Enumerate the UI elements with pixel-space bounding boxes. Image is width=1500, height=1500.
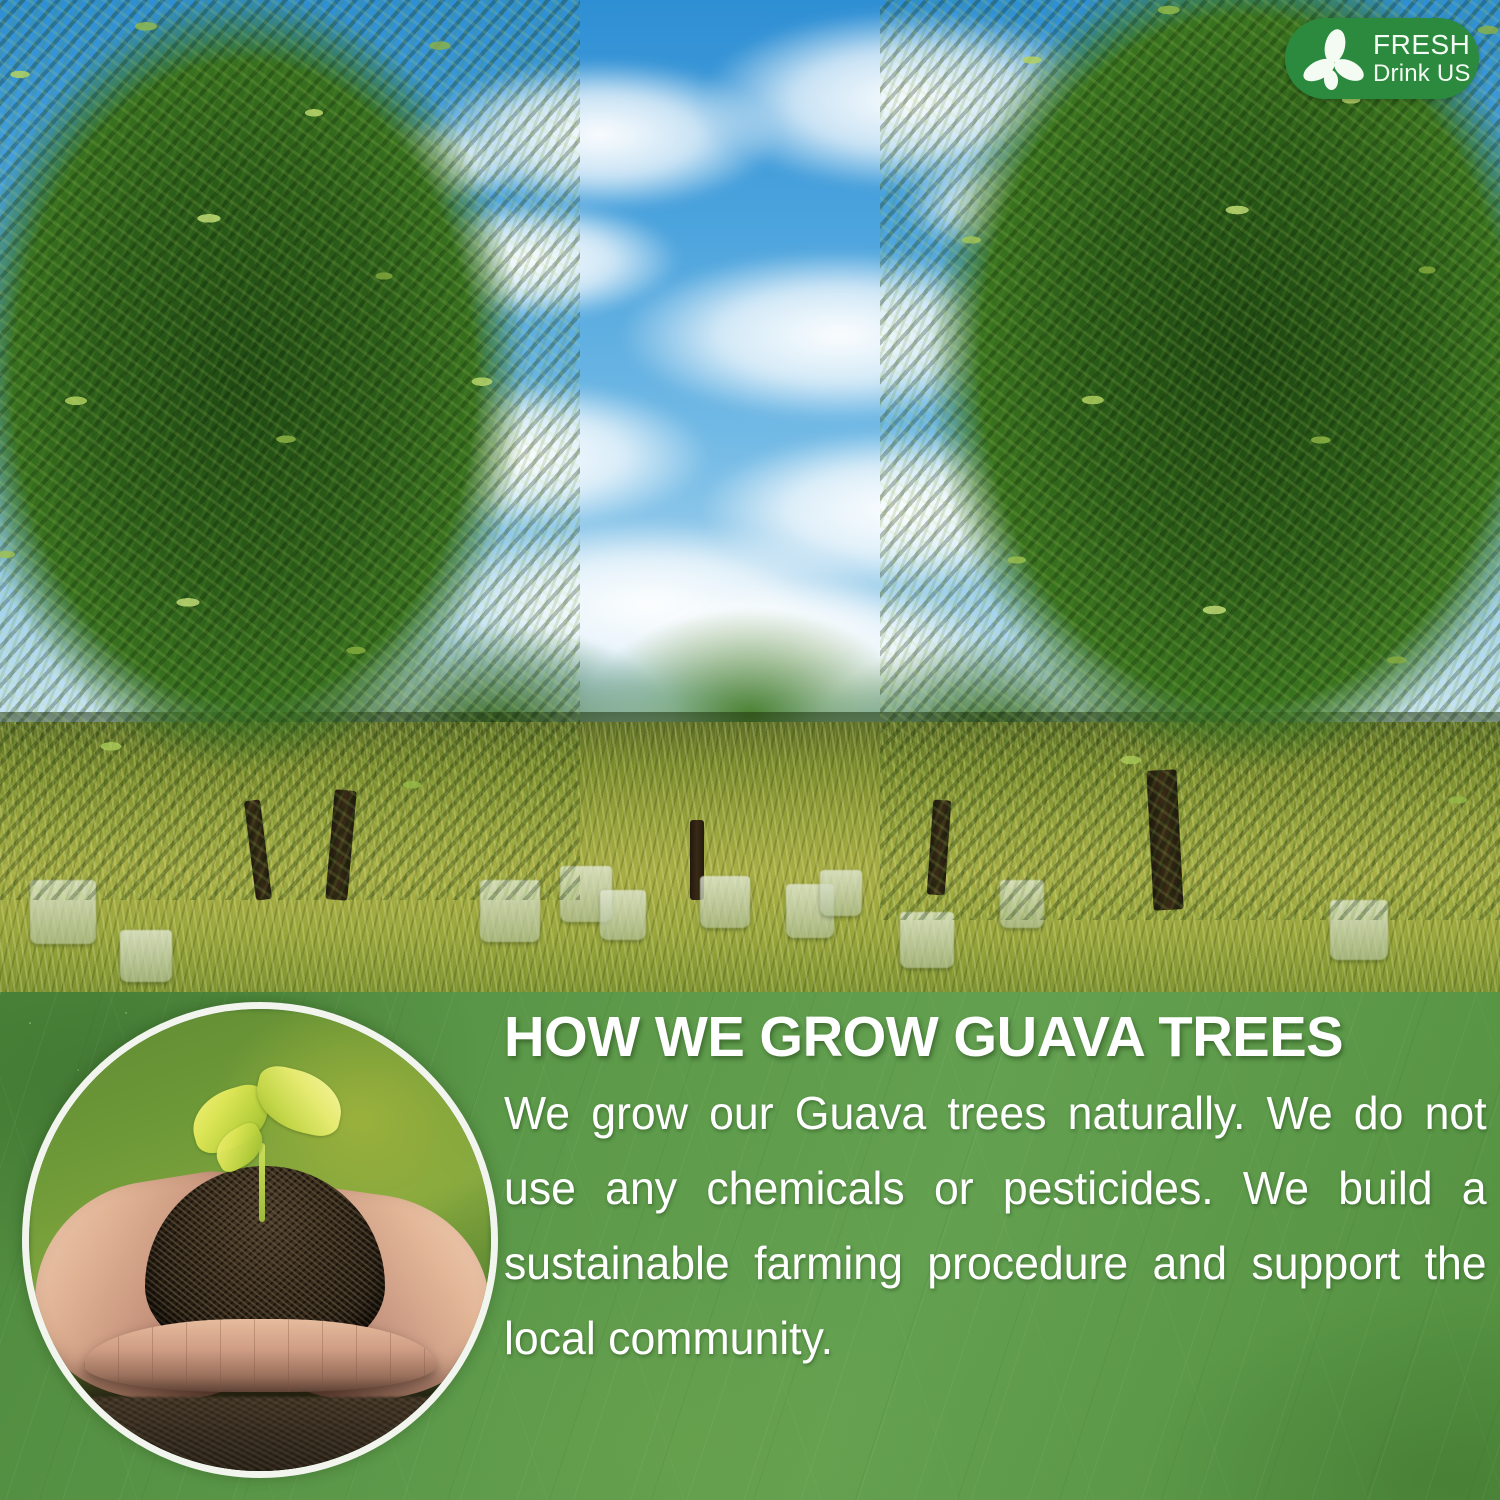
- hero-orchard-photo: [0, 0, 1500, 992]
- brand-name-secondary: Drink US: [1373, 62, 1471, 86]
- fruit-bag: [700, 876, 750, 928]
- panel-body-text: We grow our Guava trees naturally. We do…: [504, 1076, 1487, 1376]
- brand-badge[interactable]: FRESH Drink US: [1285, 18, 1479, 99]
- soil-ground-strip: [66, 1397, 454, 1471]
- seedling-stem: [259, 1143, 265, 1222]
- fruit-bag: [600, 890, 646, 940]
- page-title: HOW WE GROW GUAVA TREES: [504, 1004, 1477, 1070]
- fruit-bag: [120, 930, 172, 982]
- fruit-bag: [820, 870, 862, 916]
- panel-text-column: HOW WE GROW GUAVA TREES We grow our Guav…: [504, 1004, 1492, 1376]
- guava-tree-right: [880, 0, 1500, 920]
- infographic-page: HOW WE GROW GUAVA TREES We grow our Guav…: [0, 0, 1500, 1500]
- leaf-cluster-icon: [1297, 28, 1367, 90]
- foliage-texture: [880, 0, 1500, 920]
- fruit-bag: [900, 912, 954, 968]
- foliage-texture: [0, 0, 580, 900]
- hands-holding-seedling-photo: [22, 1002, 498, 1478]
- brand-name-primary: FRESH: [1373, 31, 1471, 59]
- guava-tree-left: [0, 0, 580, 900]
- brand-badge-text: FRESH Drink US: [1373, 31, 1471, 86]
